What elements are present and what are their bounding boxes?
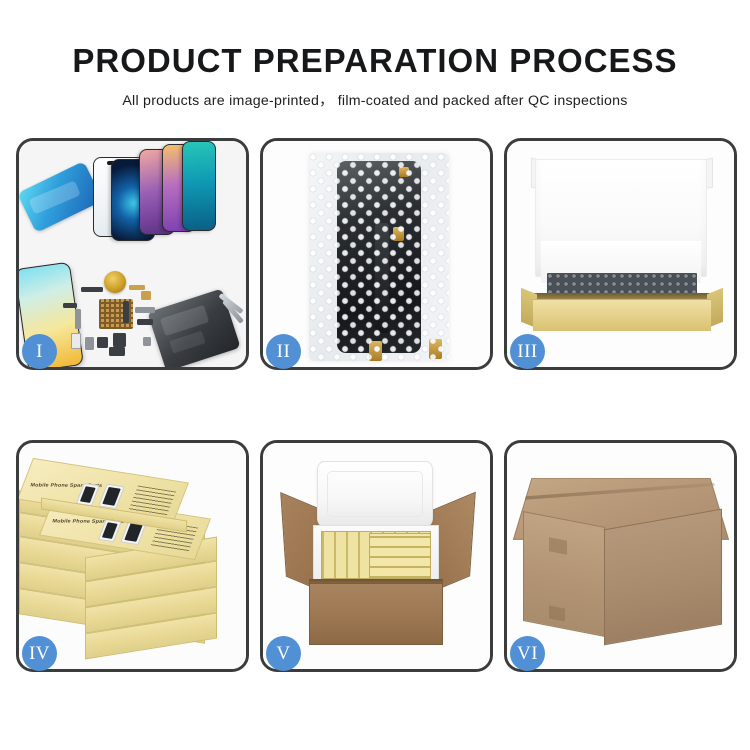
page-subtitle: All products are image-printed， film-coa… [0,90,750,110]
spare-part-icon [85,337,94,350]
spare-part-icon [75,309,81,329]
box-front-panel [533,299,711,331]
page-title: PRODUCT PREPARATION PROCESS [0,44,750,79]
spare-part-icon [137,319,153,325]
step-2-illustration [263,141,490,367]
speaker-coil-icon [104,271,126,293]
flex-cable-icon [141,291,151,300]
process-step-panel-3: III [504,138,737,370]
step-4-illustration: Mobile Phone Spare Parts Mobile Phone Sp… [19,443,246,669]
retail-box-stack: Mobile Phone Spare Parts Mobile Phone Sp… [19,453,246,663]
spare-part-icon [97,337,108,348]
step-badge-4: IV [22,636,57,671]
packed-retail-boxes [369,533,431,579]
bubble-wrap-texture [309,153,449,361]
carton-front-panel [309,583,443,645]
spare-part-icon [109,347,125,356]
step-1-illustration [19,141,246,367]
step-badge-5: V [266,636,301,671]
spare-part-icon [63,303,77,308]
step-6-illustration [507,443,734,669]
process-step-panel-4: Mobile Phone Spare Parts Mobile Phone Sp… [16,440,249,672]
step-badge-2: II [266,334,301,369]
box-print-phone-icon [98,484,125,509]
spare-part-icon [123,301,129,323]
step-badge-1: I [22,334,57,369]
process-step-grid: I II [16,138,738,672]
phone-display-icon [182,141,216,231]
spare-part-icon [113,333,126,347]
product-preparation-infographic: PRODUCT PREPARATION PROCESS All products… [0,0,750,750]
spare-part-icon [81,287,103,292]
step-badge-6: VI [510,636,545,671]
flex-cable-icon [129,285,145,290]
carton-right-panel [604,509,722,646]
blue-screen-film-icon [19,161,103,233]
spare-part-icon [143,337,151,346]
process-step-panel-2: II [260,138,493,370]
spare-part-icon [135,307,155,313]
process-step-panel-1: I [16,138,249,370]
styrofoam-lid [317,461,433,527]
process-step-panel-5: V [260,440,493,672]
bubble-wrap-bag [309,153,449,361]
step-3-illustration [507,141,734,367]
header: PRODUCT PREPARATION PROCESS All products… [0,0,750,110]
step-5-illustration [263,443,490,669]
spare-part-icon [71,333,81,349]
step-badge-3: III [510,334,545,369]
process-step-panel-6: VI [504,440,737,672]
